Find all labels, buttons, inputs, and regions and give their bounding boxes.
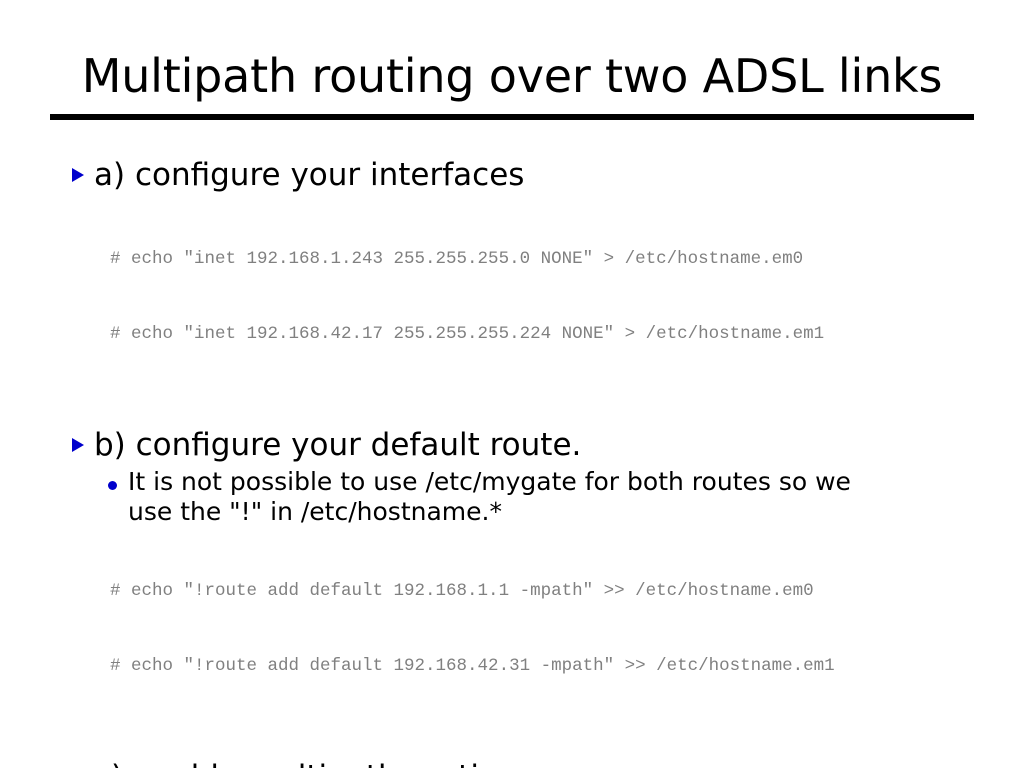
spacer [72,403,972,425]
triangle-bullet-icon [72,155,94,182]
bullet-item-b: b) configure your default route. [72,425,972,465]
presentation-slide: Multipath routing over two ADSL links a)… [0,0,1024,768]
code-line: # echo "!route add default 192.168.42.31… [110,654,972,679]
triangle-bullet-icon [72,757,94,768]
dot-bullet-icon [108,467,128,490]
bullet-label-c: c) enable multipath routing [94,757,518,768]
code-line: # echo "!route add default 192.168.1.1 -… [110,579,972,604]
bullet-item-c: c) enable multipath routing [72,757,972,768]
section-a: a) configure your interfaces # echo "ine… [72,155,972,397]
section-b: b) configure your default route. It is n… [72,425,972,729]
code-block-a: # echo "inet 192.168.1.243 255.255.255.0… [110,197,972,397]
code-line: # echo "inet 192.168.1.243 255.255.255.0… [110,247,972,272]
code-line: # echo "inet 192.168.42.17 255.255.255.2… [110,322,972,347]
bullet-label-b: b) configure your default route. [94,425,581,465]
triangle-bullet-icon [72,425,94,452]
title-underline-rule [50,114,974,120]
bullet-item-a: a) configure your interfaces [72,155,972,195]
bullet-label-a: a) configure your interfaces [94,155,524,195]
page-title: Multipath routing over two ADSL links [50,48,974,104]
sub-bullet-label-b: It is not possible to use /etc/mygate fo… [128,467,898,527]
spacer [72,735,972,757]
code-block-b: # echo "!route add default 192.168.1.1 -… [110,529,972,729]
sub-bullet-item-b: It is not possible to use /etc/mygate fo… [108,467,972,527]
slide-title-block: Multipath routing over two ADSL links [50,48,974,120]
section-c: c) enable multipath routing # echo "net.… [72,757,972,768]
slide-body: a) configure your interfaces # echo "ine… [72,155,972,768]
